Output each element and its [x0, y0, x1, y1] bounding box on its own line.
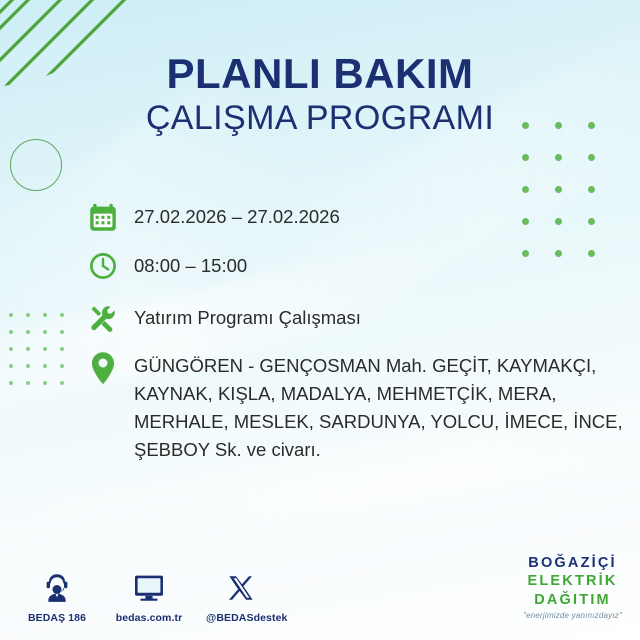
- page-subtitle: ÇALIŞMA PROGRAMI: [0, 98, 640, 139]
- contact-channels: BEDAŞ 186 bedas.com.tr: [22, 571, 276, 624]
- brand-line-bogazici: BOĞAZİÇİ: [523, 556, 622, 571]
- info-list: 27.02.2026 – 27.02.2026 08:00 – 15:00: [84, 198, 630, 474]
- brand-line-elektrik: ELEKTRİK: [523, 574, 622, 589]
- poster-footer: BEDAŞ 186 bedas.com.tr: [0, 550, 640, 640]
- planned-maintenance-poster: PLANLI BAKIM ÇALIŞMA PROGRAMI: [0, 0, 640, 640]
- dot-grid-decoration-left: [9, 313, 66, 387]
- brand-line-dagitim: DAĞITIM: [523, 593, 622, 608]
- work-type-text: Yatırım Programı Çalışması: [134, 299, 361, 331]
- page-title: PLANLI BAKIM: [0, 52, 640, 96]
- x-twitter-icon: [206, 571, 276, 605]
- info-row-address: GÜNGÖREN - GENÇOSMAN Mah. GEÇİT, KAYMAKÇ…: [84, 349, 630, 464]
- circle-outline-decoration: [10, 139, 62, 191]
- info-row-time: 08:00 – 15:00: [84, 247, 630, 285]
- clock-icon: [84, 247, 122, 285]
- x-account-label: @BEDASdestek: [206, 612, 276, 624]
- address-text: GÜNGÖREN - GENÇOSMAN Mah. GEÇİT, KAYMAKÇ…: [134, 349, 630, 464]
- location-pin-icon: [84, 349, 122, 387]
- contact-x-account[interactable]: @BEDASdestek: [206, 571, 276, 624]
- support-agent-icon: [22, 571, 92, 605]
- tools-icon: [84, 299, 122, 337]
- contact-website[interactable]: bedas.com.tr: [114, 571, 184, 624]
- contact-call-center[interactable]: BEDAŞ 186: [22, 571, 92, 624]
- bedas-logo: BOĞAZİÇİ ELEKTRİK DAĞITIM "enerjimizde y…: [523, 556, 622, 621]
- info-row-work-type: Yatırım Programı Çalışması: [84, 299, 630, 337]
- info-row-date: 27.02.2026 – 27.02.2026: [84, 198, 630, 236]
- calendar-icon: [84, 198, 122, 236]
- time-range-text: 08:00 – 15:00: [134, 247, 247, 279]
- poster-header: PLANLI BAKIM ÇALIŞMA PROGRAMI: [0, 52, 640, 139]
- date-range-text: 27.02.2026 – 27.02.2026: [134, 198, 340, 230]
- brand-tagline: "enerjimizde yanınızdayız": [523, 612, 622, 620]
- website-label: bedas.com.tr: [114, 612, 184, 624]
- monitor-icon: [114, 571, 184, 605]
- call-center-label: BEDAŞ 186: [22, 612, 92, 624]
